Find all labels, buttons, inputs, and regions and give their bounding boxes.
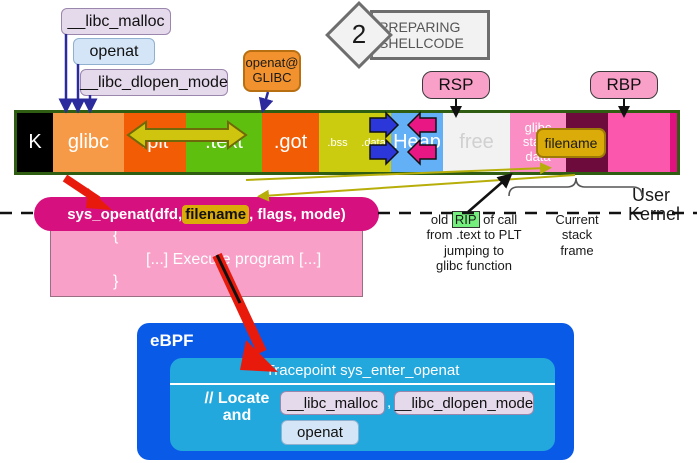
user-label: User — [632, 185, 670, 206]
memory-segment-data: .data — [356, 113, 391, 172]
diagram-canvas: PREPARING SHELLCODE 2 __libc_malloc open… — [0, 0, 697, 463]
rip-chip: RIP — [452, 211, 480, 228]
memory-segment-stack-magenta — [670, 113, 680, 172]
openat-callout[interactable]: openat — [73, 38, 155, 65]
tracepoint-box: Tracepoint sys_enter_openat // Locate an… — [170, 358, 555, 451]
old-rip-line4: glibc function — [436, 258, 512, 273]
ebpf-chip-openat[interactable]: openat — [281, 420, 359, 445]
ebpf-title: eBPF — [150, 331, 193, 351]
ebpf-comma: , — [387, 394, 391, 411]
syscall-body: { [...] Execute program [...] } — [50, 222, 363, 297]
old-rip-annotation: old RIP of call from .text to PLT jumpin… — [398, 212, 550, 273]
memory-segment-heap: Heap — [391, 113, 443, 172]
ebpf-chip-libc-malloc-label: __libc_malloc — [287, 395, 378, 412]
memory-segment-bss: .bss — [319, 113, 356, 172]
syscall-filename-arg[interactable]: filename — [182, 205, 249, 224]
libc-dlopen-mode-callout-label: __libc_dlopen_mode — [80, 74, 228, 92]
memory-segment-label: .data — [361, 137, 385, 149]
openat-callout-label: openat — [90, 43, 139, 61]
libc-malloc-callout[interactable]: __libc_malloc — [61, 8, 171, 35]
filename-chip-stack[interactable]: filename — [536, 128, 606, 158]
ebpf-comment: // Locate and — [194, 391, 280, 425]
libc-dlopen-mode-callout[interactable]: __libc_dlopen_mode — [80, 69, 228, 96]
old-rip-line3: jumping to — [444, 243, 504, 258]
syscall-body-text: [...] Execute program [...] — [146, 251, 321, 269]
current-stack-frame-brace-icon — [509, 178, 642, 196]
openat-glibc-callout[interactable]: openat@ GLIBC — [243, 50, 301, 92]
rsp-register[interactable]: RSP — [422, 71, 490, 99]
ebpf-comment-line2: and — [223, 407, 251, 424]
step-badge: PREPARING SHELLCODE 2 — [318, 6, 493, 68]
openat-glibc-line1: openat@ — [246, 56, 299, 71]
rsp-register-label: RSP — [439, 75, 474, 95]
memory-segment-label: glibc — [68, 131, 109, 154]
current-frame-line1: Current — [555, 212, 598, 227]
memory-segment-label: Heap — [393, 131, 441, 154]
step-label-line2: SHELLCODE — [379, 35, 464, 51]
memory-segment-free: free — [443, 113, 510, 172]
memory-segment-label: .text — [205, 131, 243, 154]
ebpf-panel: eBPF Tracepoint sys_enter_openat // Loca… — [137, 323, 574, 460]
ebpf-chip-libc-dlopen-mode-label: __libc_dlopen_mode — [395, 395, 533, 412]
current-stack-frame-annotation: Current stack frame — [539, 212, 615, 258]
tracepoint-title: Tracepoint sys_enter_openat — [170, 362, 555, 385]
memory-segment-text: .text — [186, 113, 262, 172]
libc-malloc-callout-label: __libc_malloc — [68, 13, 165, 31]
memory-segment-label: free — [459, 131, 493, 154]
memory-segment-label: .got — [274, 131, 307, 154]
syscall-prefix: sys_openat(dfd, — [67, 206, 182, 223]
filename-chip-stack-label: filename — [545, 135, 598, 151]
memory-segment-label: K — [28, 131, 41, 154]
syscall-suffix: , flags, mode) — [249, 206, 346, 223]
ebpf-chip-libc-malloc[interactable]: __libc_malloc — [280, 391, 385, 415]
old-rip-pointer-icon — [468, 178, 507, 212]
rbp-register[interactable]: RBP — [590, 71, 658, 99]
syscall-signature[interactable]: sys_openat(dfd, filename, flags, mode) — [34, 197, 379, 231]
memory-segment-label: .bss — [327, 137, 347, 149]
memory-segment-stack-pink — [608, 113, 670, 172]
old-rip-line2: from .text to PLT — [426, 227, 521, 242]
ebpf-chip-libc-dlopen-mode[interactable]: __libc_dlopen_mode — [394, 391, 534, 415]
current-frame-line3: frame — [560, 243, 593, 258]
openat-glibc-line2: GLIBC — [253, 71, 292, 86]
memory-segment-label: .plt — [142, 131, 169, 154]
memory-segment-kernel-left: K — [17, 113, 53, 172]
kernel-label: Kernel — [628, 204, 680, 225]
memory-segment-glibc: glibc — [53, 113, 124, 172]
step-number: 2 — [335, 19, 383, 50]
ebpf-comment-line1: // Locate — [205, 390, 270, 407]
rbp-register-label: RBP — [607, 75, 642, 95]
old-rip-post: of call — [480, 212, 518, 227]
current-frame-line2: stack — [562, 227, 592, 242]
ebpf-chip-openat-label: openat — [297, 424, 343, 441]
syscall-body-close: } — [113, 273, 118, 291]
memory-segment-plt: .plt — [124, 113, 186, 172]
old-rip-pre: old — [431, 212, 452, 227]
memory-segment-got: .got — [262, 113, 319, 172]
